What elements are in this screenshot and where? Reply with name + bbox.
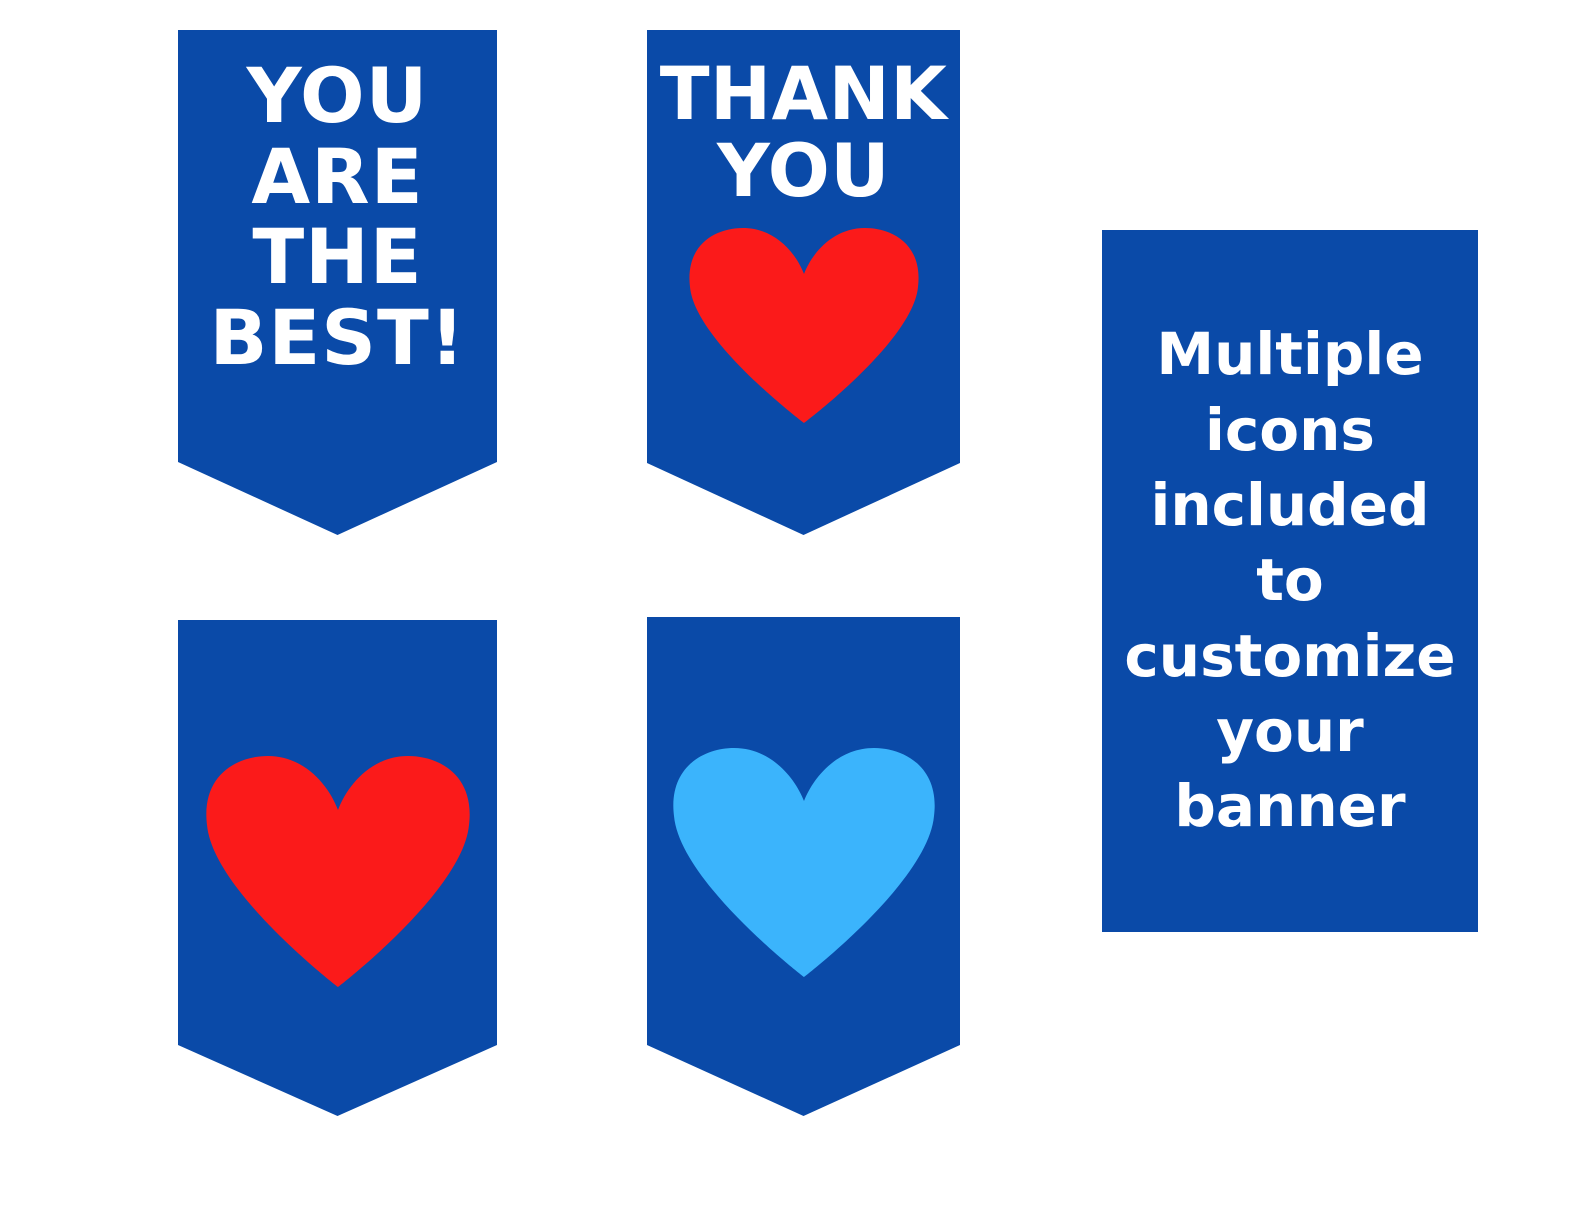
heart-icon — [687, 227, 921, 427]
banner-mockup-canvas: YOU ARE THE BEST! THANK YOU — [0, 0, 1588, 1222]
panel-description: Multiple icons included to customize you… — [1114, 317, 1465, 845]
banner-content: YOU ARE THE BEST! — [178, 30, 497, 378]
banner-headline: THANK YOU — [660, 56, 948, 211]
banner-red-heart[interactable] — [178, 620, 497, 1116]
banner-blue-heart[interactable] — [647, 617, 960, 1116]
banner-thank-you[interactable]: THANK YOU — [647, 30, 960, 535]
banner-you-are-the-best[interactable]: YOU ARE THE BEST! — [178, 30, 497, 535]
banner-content — [178, 620, 497, 991]
heart-icon — [204, 755, 472, 991]
banner-headline: YOU ARE THE BEST! — [209, 56, 465, 378]
banner-content — [647, 617, 960, 981]
banner-content: THANK YOU — [647, 30, 960, 427]
panel-multiple-icons[interactable]: Multiple icons included to customize you… — [1102, 230, 1478, 932]
heart-icon — [671, 747, 937, 981]
